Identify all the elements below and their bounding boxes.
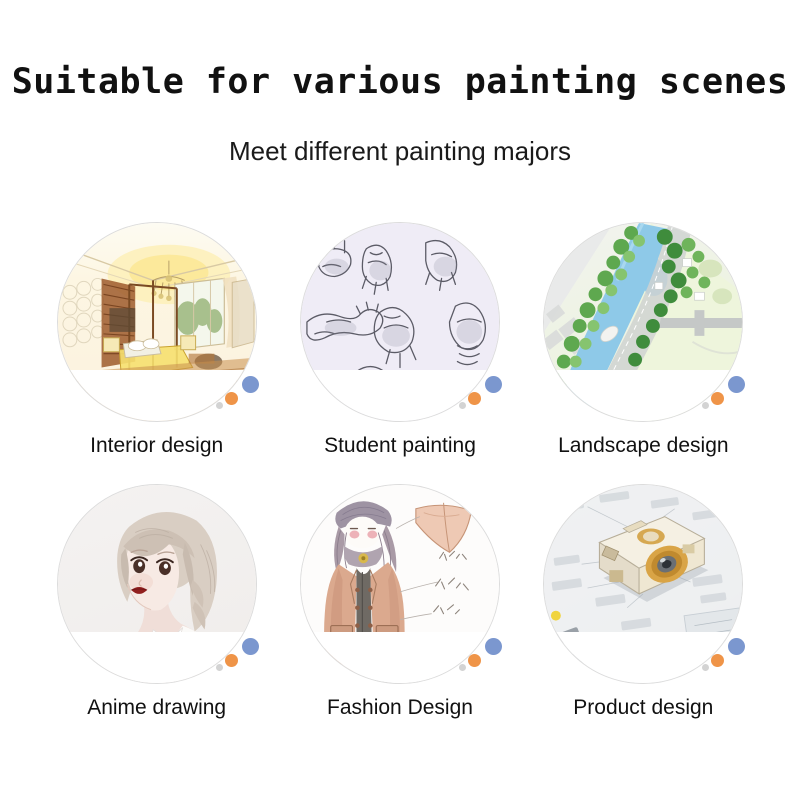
scene-circle [57, 222, 257, 422]
scene-label: Fashion Design [327, 696, 473, 720]
scene-thumbnail-wrap [300, 484, 500, 684]
interior-bedroom-marker-sketch-icon [58, 223, 256, 421]
scene-label: Anime drawing [87, 696, 226, 720]
scene-card-landscape-design[interactable]: Landscape design [525, 222, 762, 484]
scene-grid: Interior design [38, 222, 762, 746]
scene-thumbnail-wrap [57, 484, 257, 684]
promo-page: Suitable for various painting scenes Mee… [0, 0, 800, 800]
scene-card-product-design[interactable]: Product design [525, 484, 762, 746]
scene-thumbnail-wrap [543, 222, 743, 422]
scene-label: Landscape design [558, 434, 728, 458]
aerial-park-site-plan-icon [544, 223, 742, 421]
scene-label: Student painting [324, 434, 476, 458]
fashion-coat-illustration-icon [301, 485, 499, 683]
scene-label: Product design [573, 696, 713, 720]
pencil-arm-study-sketches-icon [301, 223, 499, 421]
anime-girl-portrait-icon [58, 485, 256, 683]
scene-card-fashion-design[interactable]: Fashion Design [281, 484, 518, 746]
scene-circle [300, 484, 500, 684]
scene-thumbnail-wrap [300, 222, 500, 422]
scene-circle [543, 484, 743, 684]
scene-card-interior-design[interactable]: Interior design [38, 222, 275, 484]
scene-thumbnail-wrap [543, 484, 743, 684]
scene-label: Interior design [90, 434, 223, 458]
scene-circle [300, 222, 500, 422]
scene-card-student-painting[interactable]: Student painting [281, 222, 518, 484]
product-camera-rendering-icon [544, 485, 742, 683]
scene-card-anime-drawing[interactable]: Anime drawing [38, 484, 275, 746]
scene-thumbnail-wrap [57, 222, 257, 422]
scene-circle [57, 484, 257, 684]
scene-circle [543, 222, 743, 422]
page-subtitle: Meet different painting majors [0, 136, 800, 167]
page-title: Suitable for various painting scenes [0, 62, 800, 102]
